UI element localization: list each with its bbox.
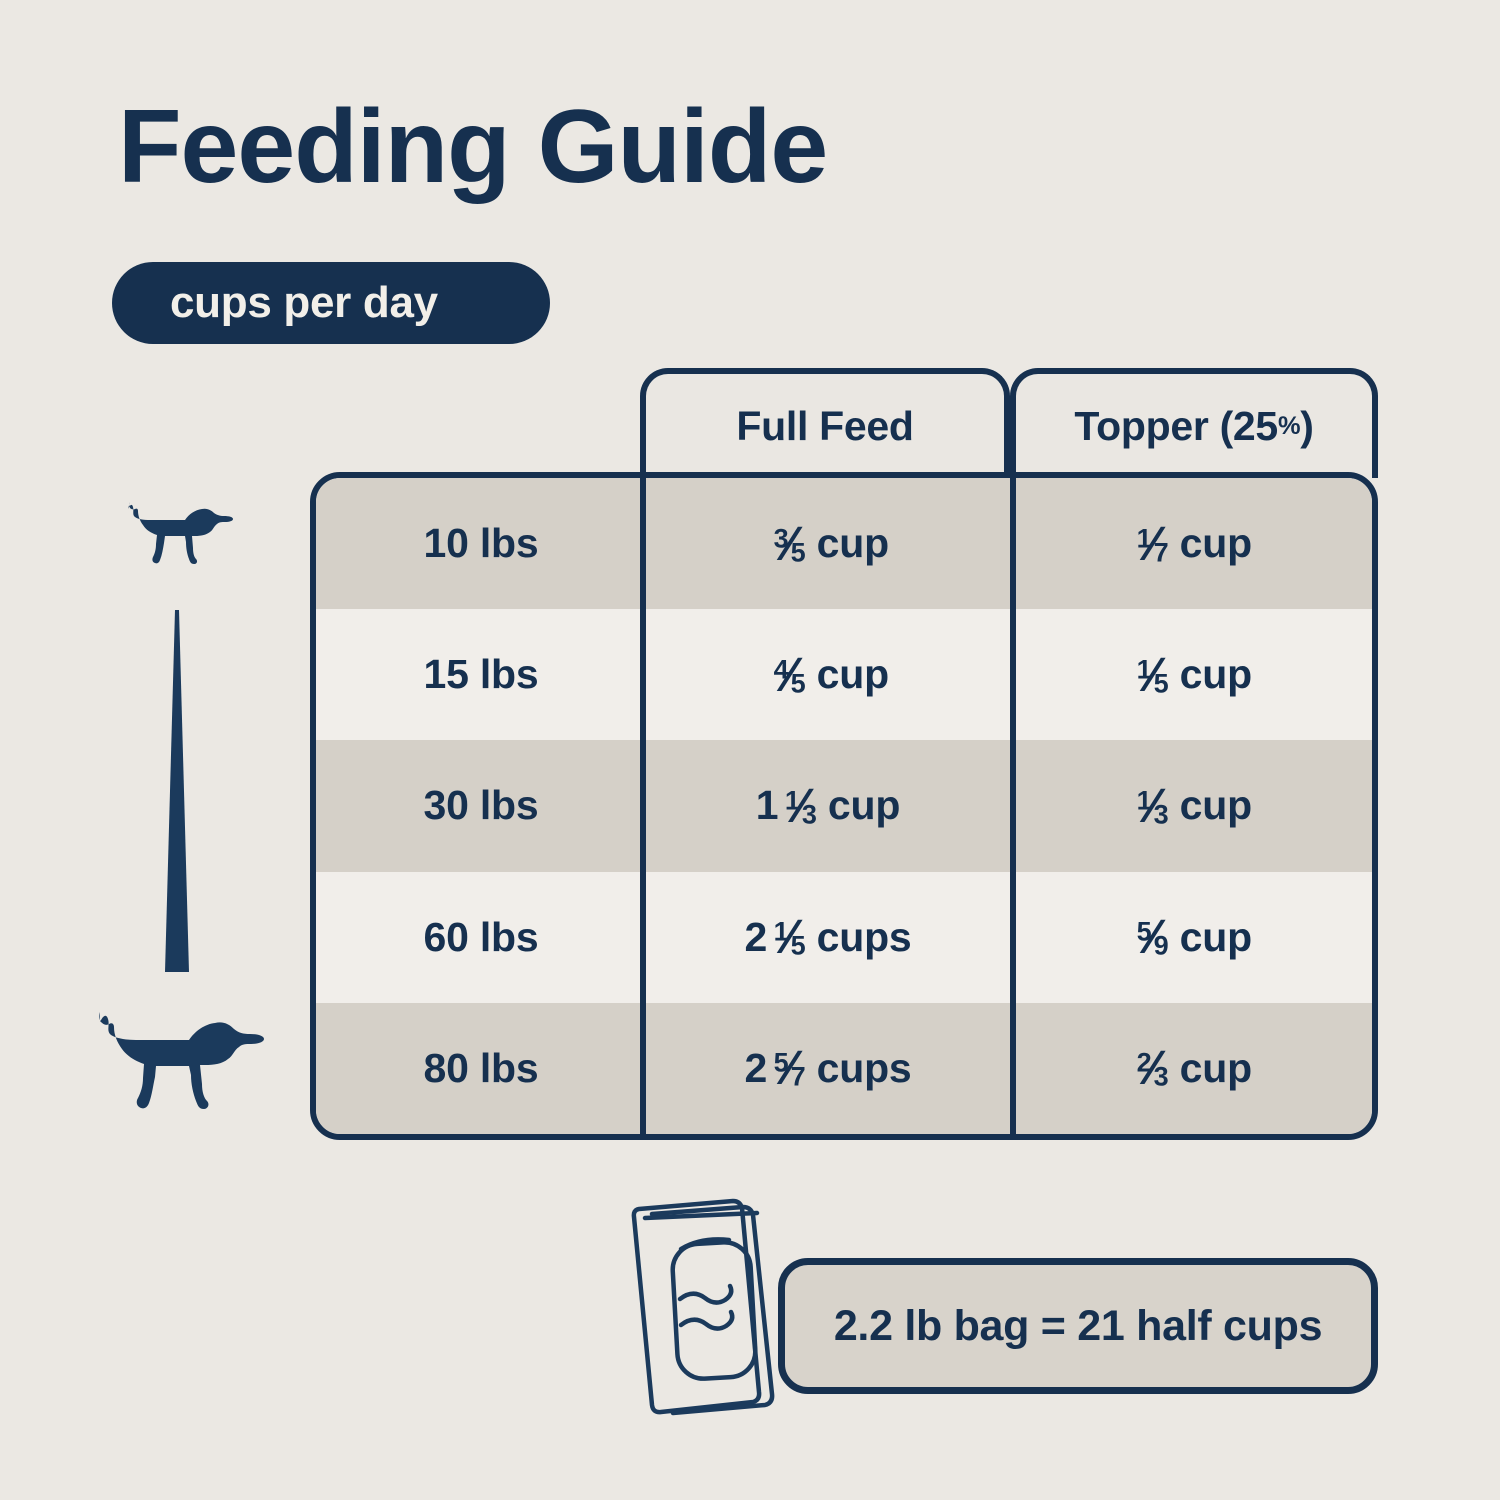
column-header-topper-label: Topper (25 [1074, 403, 1278, 450]
topper-unit: cup [1180, 782, 1252, 829]
cell-full-feed: 25⁄7 cups [646, 1003, 1010, 1134]
topper-unit: cup [1180, 651, 1252, 698]
cell-weight: 60 lbs [316, 872, 646, 1003]
page-title: Feeding Guide [118, 95, 827, 199]
topper-unit: cup [1180, 520, 1252, 567]
cell-full-feed: 3⁄5 cup [646, 478, 1010, 609]
topper-fraction: 1⁄7 [1137, 516, 1169, 572]
full-feed-unit: cups [817, 1045, 912, 1092]
column-header-topper: Topper (25%) [1010, 368, 1378, 478]
cups-per-day-badge: cups per day [112, 262, 550, 344]
cell-topper: 2⁄3 cup [1010, 1003, 1372, 1134]
full-feed-fraction: 1⁄5 [774, 909, 806, 965]
cell-topper: 5⁄9 cup [1010, 872, 1372, 1003]
full-feed-whole: 2 [744, 914, 767, 961]
full-feed-fraction: 4⁄5 [774, 647, 806, 703]
cell-full-feed: 4⁄5 cup [646, 609, 1010, 740]
fraction-denominator: 7 [791, 1062, 806, 1092]
topper-fraction: 1⁄5 [1137, 647, 1169, 703]
full-feed-whole: 2 [744, 1045, 767, 1092]
cell-topper: 1⁄7 cup [1010, 478, 1372, 609]
bag-conversion-text: 2.2 lb bag = 21 half cups [834, 1302, 1322, 1351]
cups-per-day-badge-label: cups per day [112, 278, 438, 328]
topper-fraction: 5⁄9 [1137, 909, 1169, 965]
full-feed-whole: 1 [756, 782, 779, 829]
fraction-denominator: 9 [1154, 931, 1169, 961]
table-header-row: Full Feed Topper (25%) [310, 368, 1378, 478]
large-dog-icon [84, 1000, 280, 1128]
topper-fraction: 2⁄3 [1137, 1040, 1169, 1096]
table-body: 10 lbs 3⁄5 cup 1⁄7 cup 15 lbs 4⁄5 cup 1⁄… [310, 472, 1378, 1140]
small-dog-icon [118, 495, 244, 577]
table-row: 60 lbs 21⁄5 cups 5⁄9 cup [316, 872, 1372, 1003]
fraction-denominator: 3 [802, 800, 817, 830]
full-feed-unit: cup [817, 520, 889, 567]
fraction-denominator: 5 [791, 931, 806, 961]
table-row: 80 lbs 25⁄7 cups 2⁄3 cup [316, 1003, 1372, 1134]
column-divider [1010, 472, 1016, 1140]
full-feed-fraction: 1⁄3 [785, 778, 817, 834]
size-wedge-icon [155, 610, 199, 972]
cell-weight: 10 lbs [316, 478, 646, 609]
table-row: 15 lbs 4⁄5 cup 1⁄5 cup [316, 609, 1372, 740]
full-feed-unit: cup [817, 651, 889, 698]
cell-topper: 1⁄5 cup [1010, 609, 1372, 740]
column-header-full-feed: Full Feed [640, 368, 1010, 478]
cell-weight: 30 lbs [316, 740, 646, 871]
cell-topper: 1⁄3 cup [1010, 740, 1372, 871]
table-row: 30 lbs 11⁄3 cup 1⁄3 cup [316, 740, 1372, 871]
fraction-denominator: 5 [1154, 668, 1169, 698]
fraction-denominator: 5 [791, 668, 806, 698]
bag-conversion-banner: 2.2 lb bag = 21 half cups [778, 1258, 1378, 1394]
full-feed-fraction: 5⁄7 [774, 1040, 806, 1096]
full-feed-fraction: 3⁄5 [774, 516, 806, 572]
cell-full-feed: 21⁄5 cups [646, 872, 1010, 1003]
column-divider [640, 472, 646, 1140]
fraction-denominator: 7 [1154, 537, 1169, 567]
topper-unit: cup [1180, 914, 1252, 961]
cell-weight: 80 lbs [316, 1003, 646, 1134]
topper-fraction: 1⁄3 [1137, 778, 1169, 834]
column-header-full-feed-label: Full Feed [736, 403, 913, 450]
topper-unit: cup [1180, 1045, 1252, 1092]
fraction-denominator: 3 [1154, 1062, 1169, 1092]
cell-weight: 15 lbs [316, 609, 646, 740]
cell-full-feed: 11⁄3 cup [646, 740, 1010, 871]
fraction-denominator: 5 [791, 537, 806, 567]
column-header-topper-tail: ) [1300, 403, 1313, 450]
full-feed-unit: cups [817, 914, 912, 961]
full-feed-unit: cup [828, 782, 900, 829]
feeding-table: Full Feed Topper (25%) 10 lbs 3⁄5 cup 1⁄… [310, 368, 1378, 1140]
table-row: 10 lbs 3⁄5 cup 1⁄7 cup [316, 478, 1372, 609]
fraction-denominator: 3 [1154, 800, 1169, 830]
